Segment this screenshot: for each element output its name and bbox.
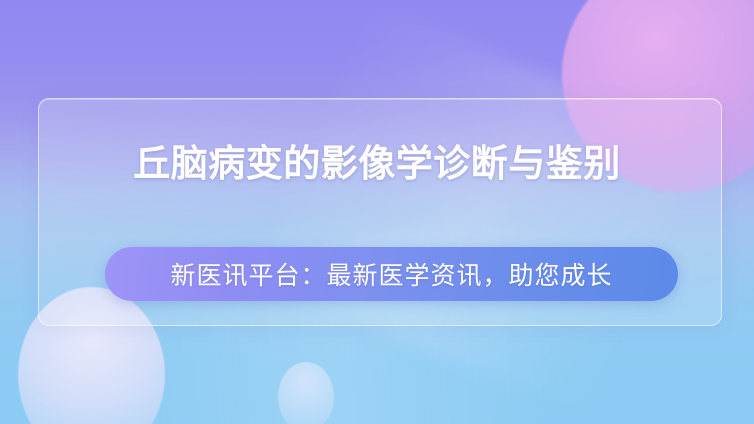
presentation-slide: 丘脑病变的影像学诊断与鉴别 新医讯平台：最新医学资讯，助您成长	[0, 0, 754, 424]
subtitle-pill: 新医讯平台：最新医学资讯，助您成长	[105, 247, 678, 301]
subtitle-text: 新医讯平台：最新医学资讯，助您成长	[170, 256, 612, 292]
slide-content: 丘脑病变的影像学诊断与鉴别 新医讯平台：最新医学资讯，助您成长	[0, 0, 754, 424]
slide-title: 丘脑病变的影像学诊断与鉴别	[0, 143, 754, 186]
